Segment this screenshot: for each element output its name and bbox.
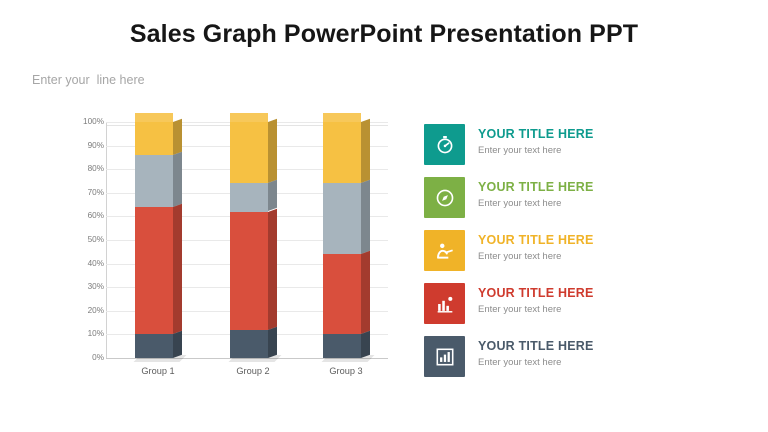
bar-segment-side <box>361 119 370 184</box>
bar-segment-top <box>323 113 361 122</box>
legend-item-title: YOUR TITLE HERE <box>478 339 594 354</box>
y-tick-label: 0% <box>58 354 104 362</box>
legend-item-subtitle: Enter your text here <box>478 145 594 157</box>
y-tick-label: 30% <box>58 283 104 291</box>
stacked-column-chart: 100%90%80%70%60%50%40%30%20%10%0% Group … <box>55 116 400 381</box>
legend-item-title: YOUR TITLE HERE <box>478 286 594 301</box>
bar-chart-icon <box>424 336 465 377</box>
legend-item[interactable]: YOUR TITLE HEREEnter your text here <box>424 230 724 271</box>
bar-segment[interactable] <box>323 334 361 358</box>
bar-group <box>135 116 181 358</box>
bar-stack <box>135 122 173 358</box>
bar-segment[interactable] <box>230 183 268 211</box>
legend-item-subtitle: Enter your text here <box>478 198 594 210</box>
bar-segment[interactable] <box>135 207 173 334</box>
x-tick-label: Group 2 <box>218 366 288 376</box>
bar-segment[interactable] <box>323 254 361 334</box>
bar-segment[interactable] <box>135 155 173 207</box>
bar-segment[interactable] <box>230 212 268 330</box>
legend-item[interactable]: YOUR TITLE HEREEnter your text here <box>424 283 724 324</box>
y-tick-label: 100% <box>58 118 104 126</box>
bar-segment-side <box>173 119 182 155</box>
bar-segment[interactable] <box>230 122 268 183</box>
x-tick-label: Group 1 <box>123 366 193 376</box>
legend-item-subtitle: Enter your text here <box>478 357 594 369</box>
bar-segment-side <box>268 180 277 212</box>
bar-segment-side <box>361 251 370 335</box>
legend-item-title: YOUR TITLE HERE <box>478 127 594 142</box>
bar-chart-person-icon <box>424 283 465 324</box>
legend-item[interactable]: YOUR TITLE HEREEnter your text here <box>424 336 724 377</box>
bar-group <box>230 116 276 358</box>
legend-item-subtitle: Enter your text here <box>478 251 594 263</box>
legend-item-subtitle: Enter your text here <box>478 304 594 316</box>
bar-segment[interactable] <box>323 122 361 183</box>
bar-segment-side <box>361 331 370 358</box>
legend-list: YOUR TITLE HEREEnter your text hereYOUR … <box>424 124 724 389</box>
bar-group <box>323 116 369 358</box>
slide-canvas: Sales Graph PowerPoint Presentation PPT … <box>0 0 768 432</box>
bar-segment-side <box>173 152 182 207</box>
bar-segment[interactable] <box>323 183 361 254</box>
stopwatch-icon <box>424 124 465 165</box>
bar-segment-side <box>361 180 370 254</box>
legend-item-text: YOUR TITLE HEREEnter your text here <box>478 233 594 263</box>
legend-item-text: YOUR TITLE HEREEnter your text here <box>478 339 594 369</box>
x-tick-label: Group 3 <box>311 366 381 376</box>
bar-segment[interactable] <box>135 334 173 358</box>
subtitle-text: Enter your line here <box>32 73 145 87</box>
y-tick-label: 60% <box>58 212 104 220</box>
y-tick-label: 10% <box>58 330 104 338</box>
presenter-icon <box>424 230 465 271</box>
bar-segment[interactable] <box>230 330 268 358</box>
bar-segment-top <box>230 113 268 122</box>
compass-icon <box>424 177 465 218</box>
legend-item-title: YOUR TITLE HERE <box>478 233 594 248</box>
legend-item-text: YOUR TITLE HEREEnter your text here <box>478 286 594 316</box>
bar-segment-side <box>268 208 277 329</box>
bar-segment-side <box>268 326 277 358</box>
legend-item-text: YOUR TITLE HEREEnter your text here <box>478 127 594 157</box>
bar-stack <box>323 122 361 358</box>
y-tick-label: 40% <box>58 260 104 268</box>
bar-segment-side <box>268 119 277 184</box>
y-tick-label: 90% <box>58 142 104 150</box>
bar-stack <box>230 122 268 358</box>
legend-item-title: YOUR TITLE HERE <box>478 180 594 195</box>
legend-item[interactable]: YOUR TITLE HEREEnter your text here <box>424 124 724 165</box>
bar-segment-top <box>135 113 173 122</box>
y-tick-label: 20% <box>58 307 104 315</box>
legend-item-text: YOUR TITLE HEREEnter your text here <box>478 180 594 210</box>
y-tick-label: 70% <box>58 189 104 197</box>
page-title: Sales Graph PowerPoint Presentation PPT <box>0 20 768 49</box>
legend-item[interactable]: YOUR TITLE HEREEnter your text here <box>424 177 724 218</box>
bar-segment[interactable] <box>135 122 173 155</box>
bar-segment-side <box>173 204 182 335</box>
y-tick-label: 80% <box>58 165 104 173</box>
bar-segment-side <box>173 331 182 358</box>
y-tick-label: 50% <box>58 236 104 244</box>
